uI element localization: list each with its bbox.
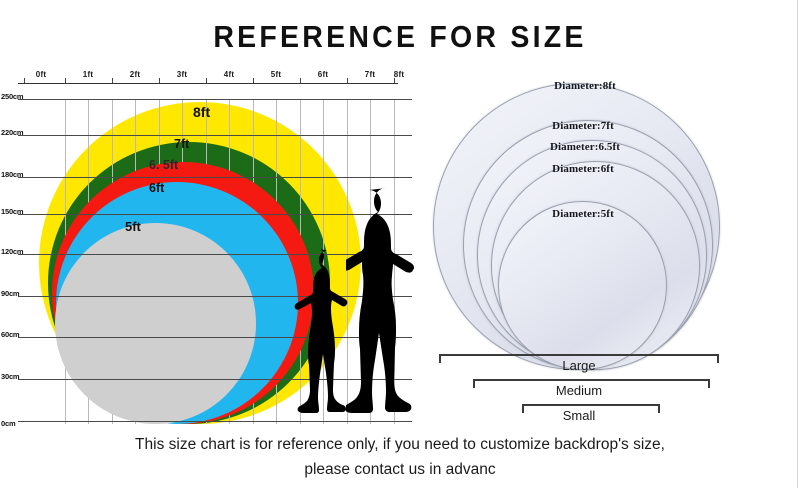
grid-line-horizontal: [18, 177, 412, 178]
x-tick: [112, 78, 113, 83]
disc-label-6.5ft: Diameter:6.5ft: [550, 141, 620, 153]
ring-label-7ft: 7ft: [174, 137, 189, 151]
x-tick-label: 7ft: [365, 70, 375, 79]
plot-area: 8ft 7ft 6. 5ft 6ft 5ft: [18, 84, 430, 424]
caption-line-1: This size chart is for reference only, i…: [40, 432, 760, 457]
bracket-tick-left: [473, 379, 475, 388]
grid-line-horizontal: [18, 99, 412, 100]
bracket-tick-left: [439, 354, 441, 363]
x-tick-label: 6ft: [318, 70, 328, 79]
height-reference-chart: 0ft 1ft 2ft 3ft 4ft 5ft 6ft 7ft 8ft: [0, 70, 430, 430]
bracket-bar: [439, 354, 719, 356]
y-tick-label: 220cm: [1, 128, 23, 137]
right-border: [797, 0, 798, 488]
grid-line-horizontal: [18, 135, 412, 136]
bracket-tick-right: [717, 354, 719, 363]
x-tick-label: 2ft: [130, 70, 140, 79]
x-tick-label: 1ft: [83, 70, 93, 79]
x-tick: [253, 78, 254, 83]
caption: This size chart is for reference only, i…: [40, 432, 760, 482]
caption-line-2: please contact us in advanc: [40, 457, 760, 482]
y-tick-label: 150cm: [1, 207, 23, 216]
ring-label-6ft: 6ft: [149, 181, 164, 195]
disc-size-chart: Diameter:8ft Diameter:7ft Diameter:6.5ft…: [425, 62, 725, 432]
disc-5ft: [498, 201, 667, 370]
disc-label-5ft: Diameter:5ft: [552, 208, 614, 220]
disc-label-6ft: Diameter:6ft: [552, 163, 614, 175]
y-tick-label: 250cm: [1, 92, 23, 101]
x-tick: [24, 78, 25, 83]
page-title: REFERENCE FOR SIZE: [32, 19, 768, 55]
x-tick-label: 3ft: [177, 70, 187, 79]
bracket-label-medium: Medium: [556, 383, 602, 398]
y-tick-label: 60cm: [1, 330, 19, 339]
x-tick: [206, 78, 207, 83]
x-tick-label: 5ft: [271, 70, 281, 79]
x-tick-label: 4ft: [224, 70, 234, 79]
bracket-tick-right: [708, 379, 710, 388]
disc-label-8ft: Diameter:8ft: [554, 80, 616, 92]
bracket-label-small: Small: [563, 408, 596, 423]
x-tick-label: 8ft: [394, 70, 404, 79]
y-tick-label: 180cm: [1, 170, 23, 179]
ring-label-5ft: 5ft: [125, 219, 141, 234]
bracket-tick-left: [522, 404, 524, 413]
y-tick-label: 120cm: [1, 247, 23, 256]
ring-label-8ft: 8ft: [193, 104, 210, 120]
x-tick: [300, 78, 301, 83]
adult-silhouette: [346, 186, 424, 424]
ring-label-6.5ft: 6. 5ft: [149, 158, 178, 172]
size-reference-chart: REFERENCE FOR SIZE 0ft 1ft 2ft 3ft 4ft 5…: [0, 0, 800, 488]
x-tick: [159, 78, 160, 83]
y-tick-label: 90cm: [1, 289, 19, 298]
bracket-bar: [522, 404, 660, 406]
x-tick: [347, 78, 348, 83]
x-tick-label: 0ft: [36, 70, 46, 79]
bracket-label-large: Large: [562, 358, 595, 373]
x-tick: [394, 78, 395, 83]
x-tick: [65, 78, 66, 83]
y-tick-label: 0cm: [1, 419, 15, 428]
bracket-bar: [473, 379, 710, 381]
y-tick-label: 30cm: [1, 372, 19, 381]
bracket-tick-right: [658, 404, 660, 413]
disc-label-7ft: Diameter:7ft: [552, 120, 614, 132]
